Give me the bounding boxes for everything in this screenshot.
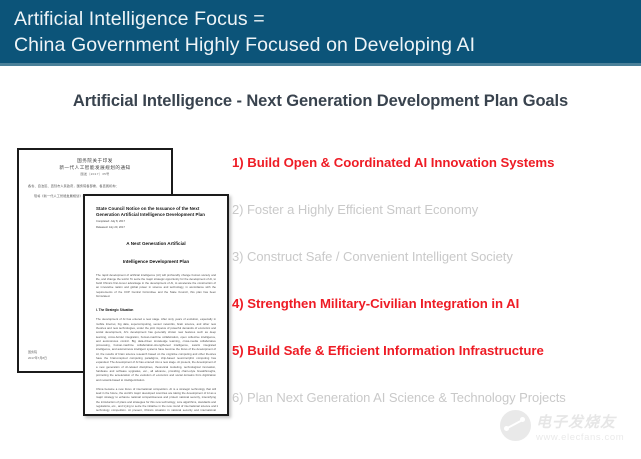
elecfans-logo-icon	[500, 410, 531, 441]
english-doc-subtitle-line2: Intelligence Development Plan	[96, 259, 216, 266]
watermark-url-text: www.elecfans.com	[536, 432, 624, 443]
header-accent-rule	[0, 63, 641, 66]
english-doc-paragraph-2: The development of AI has entered a new …	[96, 318, 216, 382]
english-doc-head-line2: Generation Artificial Intelligence Devel…	[96, 212, 216, 218]
goal-item-4: 4) Strengthen Military-Civilian Integrat…	[232, 296, 632, 343]
goal-item-3: 3) Construct Safe / Convenient Intellige…	[232, 249, 632, 296]
english-translation-document: State Council Notice on the Issuance of …	[83, 194, 229, 416]
english-doc-date-released: Released: July 20, 2017	[96, 226, 216, 230]
english-doc-subtitle-line1: A Next Generation Artificial	[96, 241, 216, 248]
header-title-line1: Artificial Intelligence Focus =	[14, 6, 641, 32]
goal-item-1: 1) Build Open & Coordinated AI Innovatio…	[232, 155, 632, 202]
goal-item-5: 5) Build Safe & Efficient Information In…	[232, 343, 632, 390]
site-watermark: 电子发烧友 www.elecfans.com	[500, 407, 632, 453]
watermark-brand-text: 电子发烧友	[536, 411, 616, 432]
header-banner: Artificial Intelligence Focus = China Go…	[0, 0, 641, 63]
chinese-doc-number: 国发〔2017〕35号	[28, 171, 162, 177]
chinese-doc-signature: 国务院 2017年7月8日	[28, 350, 88, 361]
header-title-line2: China Government Highly Focused on Devel…	[14, 32, 641, 58]
english-doc-date-completed: Completed: July 8, 2017	[96, 220, 216, 224]
document-stack: 国务院关于印发 新一代人工智能发展规划的通知 国发〔2017〕35号 各省、自治…	[17, 148, 229, 416]
english-doc-page-number: 1	[216, 404, 218, 408]
chinese-doc-title-line1: 国务院关于印发	[28, 158, 162, 165]
chinese-doc-title-line2: 新一代人工智能发展规划的通知	[28, 165, 162, 172]
goal-item-2: 2) Foster a Highly Efficient Smart Econo…	[232, 202, 632, 249]
chinese-doc-body-line1: 各省、自治区、直辖市人民政府，国务院各部委、各直属机构：	[28, 184, 162, 189]
english-doc-paragraph-3: China became a new focus of internationa…	[96, 388, 216, 416]
goals-list: 1) Build Open & Coordinated AI Innovatio…	[232, 155, 632, 437]
page-title: Artificial Intelligence - Next Generatio…	[0, 92, 641, 111]
chinese-doc-date: 2017年7月8日	[28, 356, 88, 361]
english-doc-paragraph-1: The rapid development of artificial inte…	[96, 274, 216, 300]
english-doc-section-heading-1: I. The Strategic Situation	[96, 308, 216, 313]
